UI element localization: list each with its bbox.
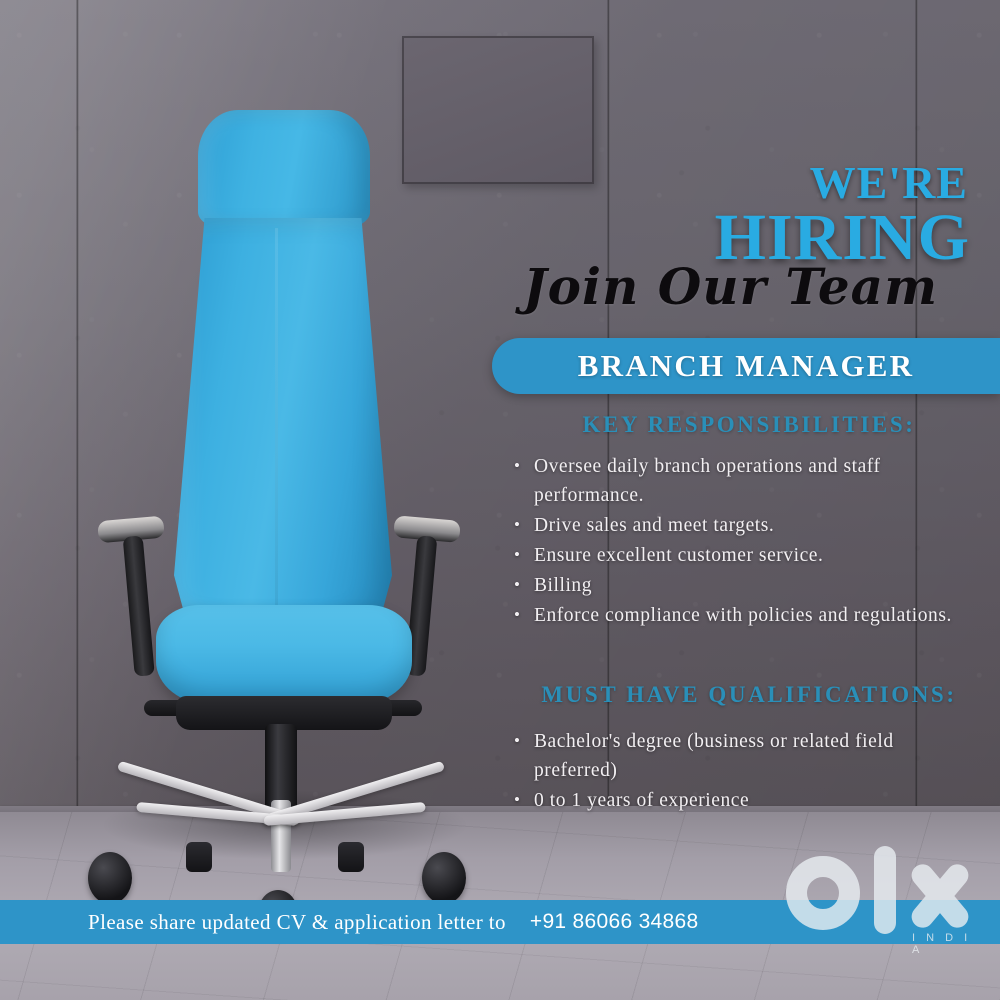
list-item: Enforce compliance with policies and reg… (512, 601, 982, 630)
headline-were: WE'RE (810, 160, 968, 206)
chair-caster (422, 852, 466, 904)
list-item: Billing (512, 571, 982, 600)
qualifications-heading: MUST HAVE QUALIFICATIONS: (0, 682, 1000, 708)
list-item: Oversee daily branch operations and staf… (512, 452, 982, 510)
list-item: 0 to 1 years of experience (512, 786, 982, 815)
role-title-banner: BRANCH MANAGER (492, 338, 1000, 394)
chair-caster (88, 852, 132, 904)
responsibilities-list: Oversee daily branch operations and staf… (512, 452, 982, 631)
tagline-join-our-team: Join Our Team (523, 262, 938, 312)
qualifications-list: Bachelor's degree (business or related f… (512, 727, 982, 816)
contact-footer-bar: Please share updated CV & application le… (0, 900, 1000, 944)
chair-caster (338, 842, 364, 872)
office-chair-image (70, 100, 490, 860)
responsibilities-heading: KEY RESPONSIBILITIES: (0, 412, 1000, 438)
role-title-text: BRANCH MANAGER (578, 348, 915, 384)
list-item: Drive sales and meet targets. (512, 511, 982, 540)
chair-caster (186, 842, 212, 872)
contact-phone-number[interactable]: +91 86066 34868 (530, 910, 699, 934)
job-poster: WE'RE HIRING Join Our Team BRANCH MANAGE… (0, 0, 1000, 1000)
chair-headrest (198, 110, 370, 228)
call-to-action-text: Please share updated CV & application le… (88, 910, 506, 935)
list-item: Ensure excellent customer service. (512, 541, 982, 570)
list-item: Bachelor's degree (business or related f… (512, 727, 982, 785)
armrest-post (123, 535, 155, 676)
